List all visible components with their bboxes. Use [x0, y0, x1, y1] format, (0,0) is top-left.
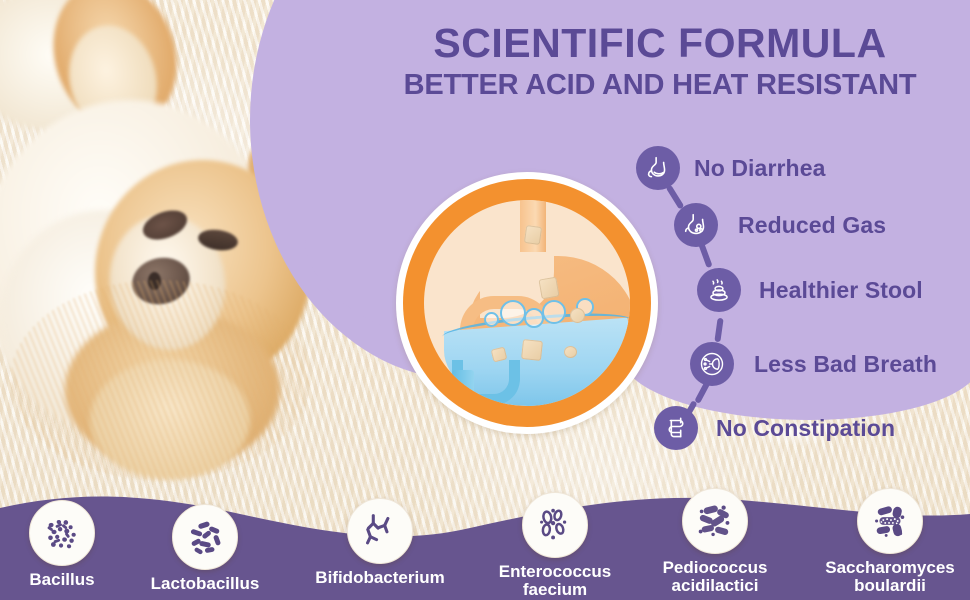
benefit-item-healthier-stool[interactable]: Healthier Stool	[697, 268, 923, 312]
strain-item-bifidobacterium[interactable]: Bifidobacterium	[310, 498, 450, 587]
stomach-gas-icon	[674, 203, 718, 247]
benefit-item-reduced-gas[interactable]: Reduced Gas	[674, 203, 886, 247]
food-particle	[538, 277, 559, 300]
benefit-item-no-constipation[interactable]: No Constipation	[654, 406, 895, 450]
intestine-icon	[654, 406, 698, 450]
bubble	[524, 308, 544, 328]
strain-item-lactobacillus[interactable]: Lactobacillus	[135, 504, 275, 593]
dog-breath-icon	[690, 342, 734, 386]
strain-name: Bacillus	[0, 571, 132, 589]
food-particle	[521, 339, 543, 361]
bacillus-icon	[29, 500, 95, 566]
promo-banner: SCIENTIFIC FORMULA BETTER ACID AND HEAT …	[0, 0, 970, 600]
enterococcus-icon	[522, 492, 588, 558]
strain-name: Enterococcusfaecium	[485, 563, 625, 599]
benefit-item-less-bad-breath[interactable]: Less Bad Breath	[690, 342, 937, 386]
pediococcus-icon	[682, 488, 748, 554]
strain-item-saccharomyces-boulardii[interactable]: Saccharomycesboulardii	[820, 488, 960, 595]
strain-item-enterococcus-faecium[interactable]: Enterococcusfaecium	[485, 492, 625, 599]
benefit-item-no-diarrhea[interactable]: No Diarrhea	[636, 146, 825, 190]
food-particle	[564, 346, 577, 358]
stomach-icon	[636, 146, 680, 190]
bubble	[500, 300, 526, 326]
bubble	[484, 312, 499, 327]
page-subtitle: BETTER ACID AND HEAT RESISTANT	[360, 69, 960, 102]
benefit-label: No Constipation	[716, 415, 895, 442]
bifidobacterium-icon	[347, 498, 413, 564]
benefit-label: No Diarrhea	[694, 155, 825, 182]
saccharomyces-icon	[857, 488, 923, 554]
page-title: SCIENTIFIC FORMULA	[360, 22, 960, 65]
bubble	[542, 300, 566, 324]
intestine-outlet	[452, 370, 474, 406]
strain-name: Saccharomycesboulardii	[820, 559, 960, 595]
benefit-label: Reduced Gas	[738, 212, 886, 239]
lactobacillus-icon	[172, 504, 238, 570]
strain-name: Pediococcusacidilactici	[645, 559, 785, 595]
benefit-label: Healthier Stool	[759, 277, 923, 304]
headline-block: SCIENTIFIC FORMULA BETTER ACID AND HEAT …	[360, 22, 960, 102]
food-particle	[524, 225, 542, 245]
strain-item-pediococcus-acidilactici[interactable]: Pediococcusacidilactici	[645, 488, 785, 595]
illustration-inner-disc	[424, 200, 630, 406]
food-particle	[570, 308, 585, 323]
stomach-digestion-illustration	[396, 172, 658, 434]
strain-name: Bifidobacterium	[310, 569, 450, 587]
benefit-label: Less Bad Breath	[754, 351, 937, 378]
stool-icon	[697, 268, 741, 312]
strain-item-bacillus[interactable]: Bacillus	[0, 500, 132, 589]
strain-name: Lactobacillus	[135, 575, 275, 593]
